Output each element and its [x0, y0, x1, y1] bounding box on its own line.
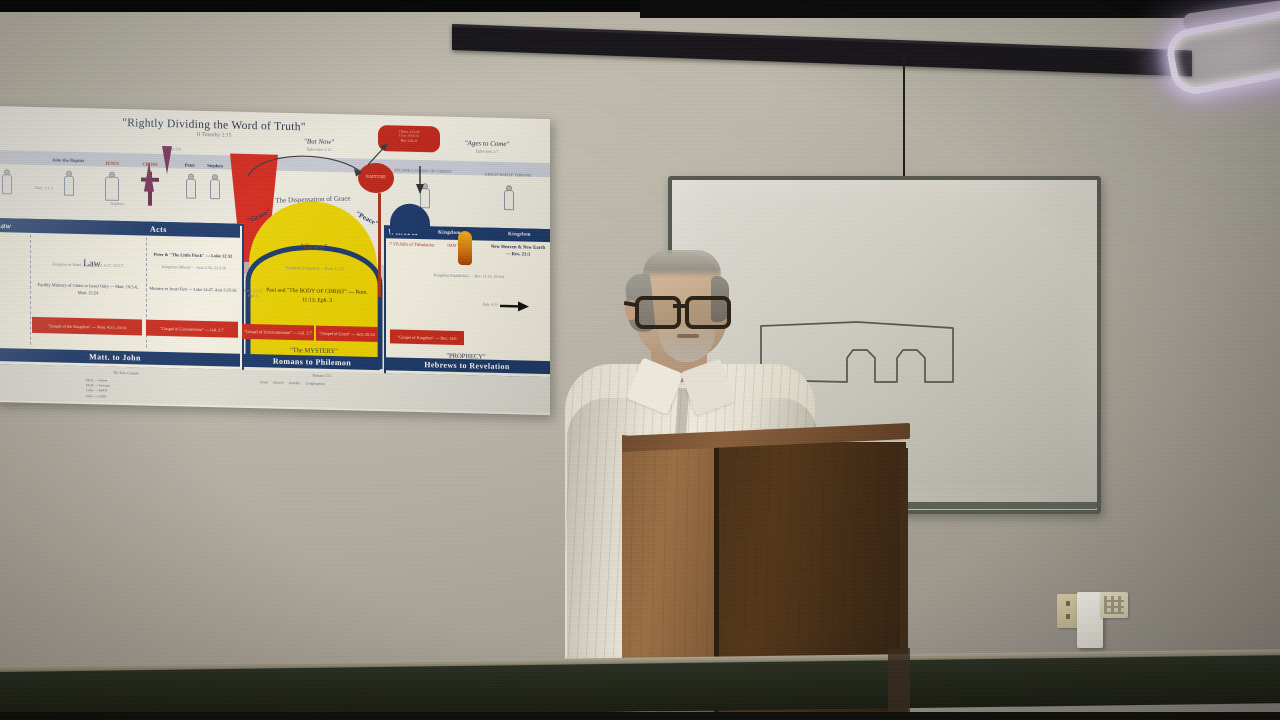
chart-redbar-gospel-uncircumcision: "Gospel of Uncircumcision" — Gal. 2:7 — [242, 324, 314, 341]
chart-ref-rom-eph: Rom. 11:13Eph. 3 — [240, 288, 266, 299]
speaker-mouth — [677, 334, 699, 338]
figure-body — [186, 179, 196, 199]
chart-curved-arrow — [244, 148, 374, 197]
eyeglass-lens-left — [635, 296, 681, 329]
chart-redbar-gospel-kingdom: "Gospel of the Kingdom" — Matt. 4:23, 24… — [32, 317, 142, 336]
chart-arrow-to-pill — [366, 141, 394, 168]
keypad-buttons — [1104, 596, 1124, 614]
figure-body — [2, 174, 12, 194]
chart-cell-body-of-christ: Paul and "The BODY OF CHRIST" — Rom. 11:… — [262, 286, 372, 306]
wall-corner-post — [888, 648, 910, 720]
figure-body — [105, 177, 119, 201]
chart-legend-left-items: Matt. — PriestMark — ServantLuke — MANJo… — [86, 378, 166, 401]
chart-cell-earthly-ministry: Earthly Ministry of Christ to Israel Onl… — [34, 281, 142, 298]
eyeglass-bridge — [673, 304, 685, 308]
fluorescent-ring-light — [1163, 8, 1280, 99]
chart-label-jesus: JESUS — [94, 160, 130, 166]
chart-figure-white-throne — [502, 184, 514, 210]
chart-flame-icon — [458, 231, 472, 265]
chart-redbar-gospel-grace: "Gospel of Grace" — Acts 20:24 — [316, 326, 378, 342]
outlet-slot-bottom — [1066, 614, 1070, 619]
chart-figure-0 — [0, 168, 12, 194]
chart-arrow-second-coming — [414, 166, 426, 196]
outlet-slot-top — [1066, 601, 1070, 606]
chart-divider-dashed-1 — [30, 235, 31, 345]
chart-connector-line — [378, 193, 381, 297]
eyeglass-lens-right — [685, 296, 731, 329]
figure-body — [504, 190, 514, 210]
chart-ref-eph-3-11: Eph. 3:11 — [462, 301, 498, 307]
chart-era-kingdom-2: Kingdom — [508, 232, 531, 238]
chart-redbar-gospel-circumcision: "Gospel of Circumcision" — Gal. 2:7 — [146, 320, 238, 338]
chart-figure-stephen — [208, 173, 220, 199]
chart-arrow-right-black — [500, 300, 530, 313]
chart-label-but-now: "But Now" — [284, 137, 354, 147]
wall-chart-poster: "Rightly Dividing the Word of Truth" II … — [0, 106, 550, 415]
chart-figure-peter — [184, 172, 196, 198]
chart-figure-jesus — [102, 171, 120, 201]
chart-cell-new-heaven-earth: New Heaven & New Earth — Rev. 21:1 — [490, 244, 546, 260]
chart-figure-john-the-baptist — [62, 170, 74, 196]
chart-ref-john-the-baptist: Matt. 3:1-3 — [22, 185, 66, 191]
chart-era-law: Law — [0, 221, 11, 230]
wall-keypad-panel[interactable] — [1100, 592, 1128, 618]
chart-era-acts: Acts — [150, 224, 167, 233]
eyeglasses-icon — [633, 296, 729, 322]
chart-ref-ages-to-come: Ephesians 2:7 — [446, 148, 528, 155]
chart-redbar-gospel-of-kingdom: "Gospel of Kingdom" — Rev. 14:6 — [390, 329, 464, 345]
chart-arrow-down-purple — [162, 146, 172, 174]
chart-label-john-the-baptist: John the Baptist — [46, 157, 90, 163]
chart-label-stephen: Stephen — [198, 163, 232, 169]
floor-edge — [0, 712, 1280, 720]
chart-cell-7-years-tribulation: 7 YEARS of Tribulation — [388, 241, 436, 249]
speaker-hair-top — [643, 250, 721, 278]
figure-body — [210, 179, 220, 199]
chart-arrow-up-purple — [144, 162, 154, 192]
chart-label-great-white-throne: GREAT WHITE THRONE — [482, 172, 534, 178]
electrical-outlet-plate[interactable] — [1057, 594, 1079, 628]
screenshot-root: "Rightly Dividing the Word of Truth" II … — [0, 0, 1280, 720]
chart-ref-jesus-baptism: Baptism — [102, 201, 132, 207]
chart-label-acts-9-4: Acts 9:4 — [154, 146, 194, 152]
